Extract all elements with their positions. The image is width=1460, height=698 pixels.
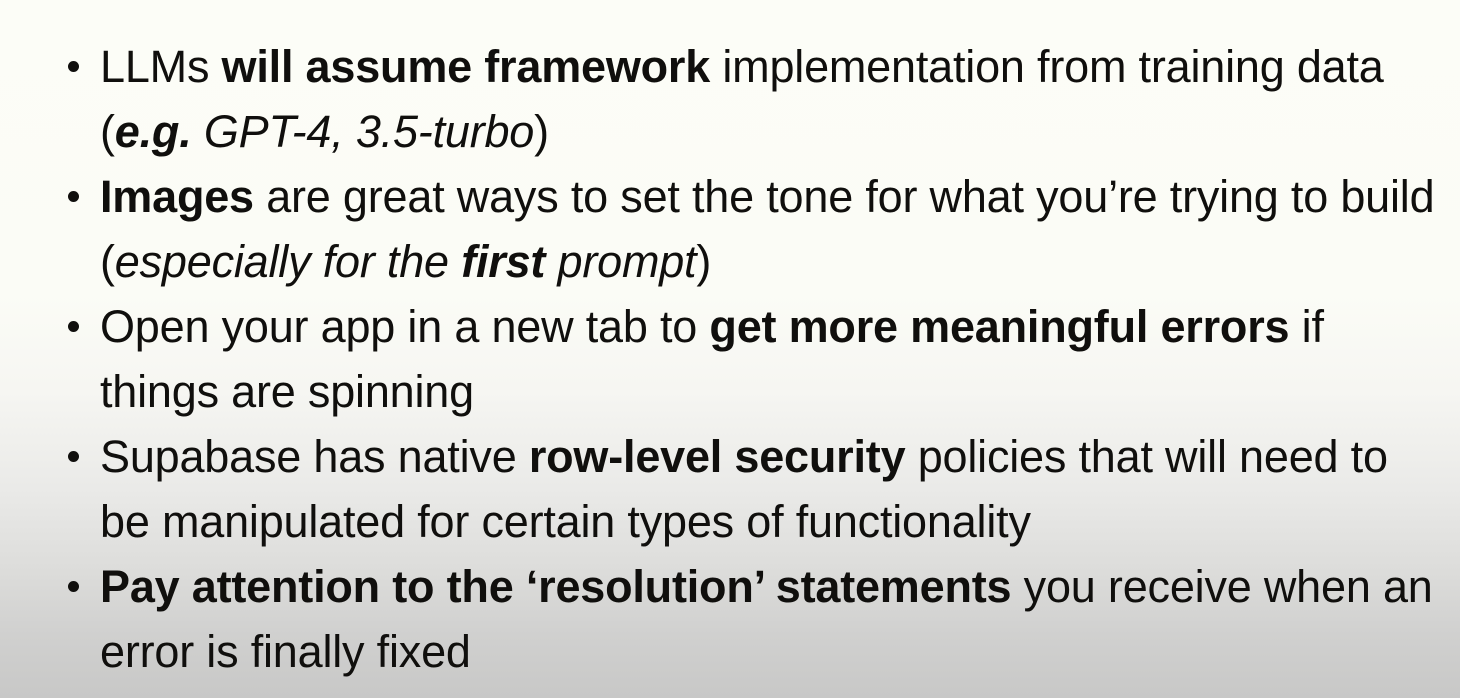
- bullet-text-images-tone: Images are great ways to set the tone fo…: [100, 164, 1444, 294]
- list-item: Supabase has native row-level security p…: [0, 424, 1460, 554]
- list-item: Pay attention to the ‘resolution’ statem…: [0, 554, 1460, 684]
- list-item: Images are great ways to set the tone fo…: [0, 164, 1460, 294]
- bullet-list: LLMs will assume framework implementatio…: [0, 34, 1460, 684]
- list-item: LLMs will assume framework implementatio…: [0, 34, 1460, 164]
- bullet-text-open-new-tab: Open your app in a new tab to get more m…: [100, 294, 1444, 424]
- bullet-text-llms-framework: LLMs will assume framework implementatio…: [100, 34, 1444, 164]
- bullet-text-supabase-rls: Supabase has native row-level security p…: [100, 424, 1444, 554]
- list-item: Open your app in a new tab to get more m…: [0, 294, 1460, 424]
- presentation-slide: LLMs will assume framework implementatio…: [0, 0, 1460, 698]
- bullet-text-resolution-statements: Pay attention to the ‘resolution’ statem…: [100, 554, 1444, 684]
